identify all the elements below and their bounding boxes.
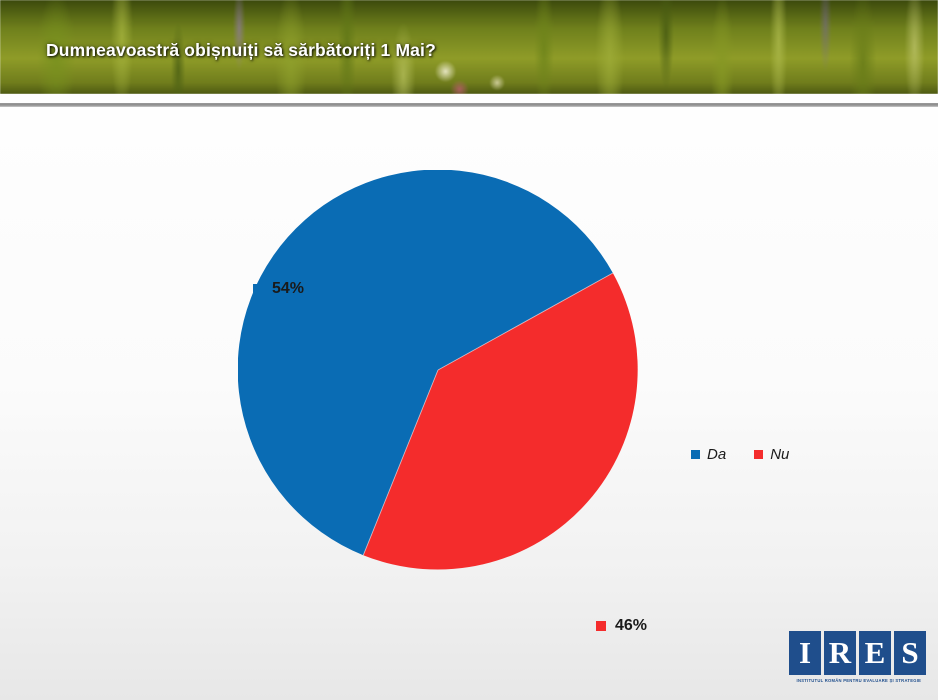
legend-label-nu: Nu [770,446,789,463]
header-divider [0,103,938,107]
legend-swatch-red-icon [754,450,763,459]
ires-logo-letter-i: I [789,631,821,675]
data-label-nu: 46% [596,617,647,635]
page-title: Dumneavoastră obișnuiți să sărbătoriți 1… [46,40,436,61]
data-label-nu-value: 46% [615,617,647,635]
legend-label-da: Da [707,446,726,463]
ires-logo-letter-r: R [824,631,856,675]
ires-logo-letters: I R E S [789,631,926,675]
square-marker-blue-icon [253,284,263,294]
square-marker-red-icon [596,621,606,631]
data-label-da-value: 54% [272,280,304,298]
ires-logo-letter-s: S [894,631,926,675]
legend-swatch-blue-icon [691,450,700,459]
chart-legend: Da Nu [691,446,789,463]
slide-header: Dumneavoastră obișnuiți să sărbătoriți 1… [0,0,938,94]
ires-logo: I R E S INSTITUTUL ROMÂN PENTRU EVALUARE… [789,631,926,683]
chart-container: 54% 46% Da Nu [0,108,938,700]
ires-logo-subtitle: INSTITUTUL ROMÂN PENTRU EVALUARE ȘI STRA… [789,678,929,683]
pie-chart-svg [238,170,638,570]
pie-chart [238,170,638,570]
legend-item-nu[interactable]: Nu [754,446,789,463]
data-label-da: 54% [253,280,304,298]
slide-root: Dumneavoastră obișnuiți să sărbătoriți 1… [0,0,938,700]
ires-logo-letter-e: E [859,631,891,675]
legend-item-da[interactable]: Da [691,446,726,463]
